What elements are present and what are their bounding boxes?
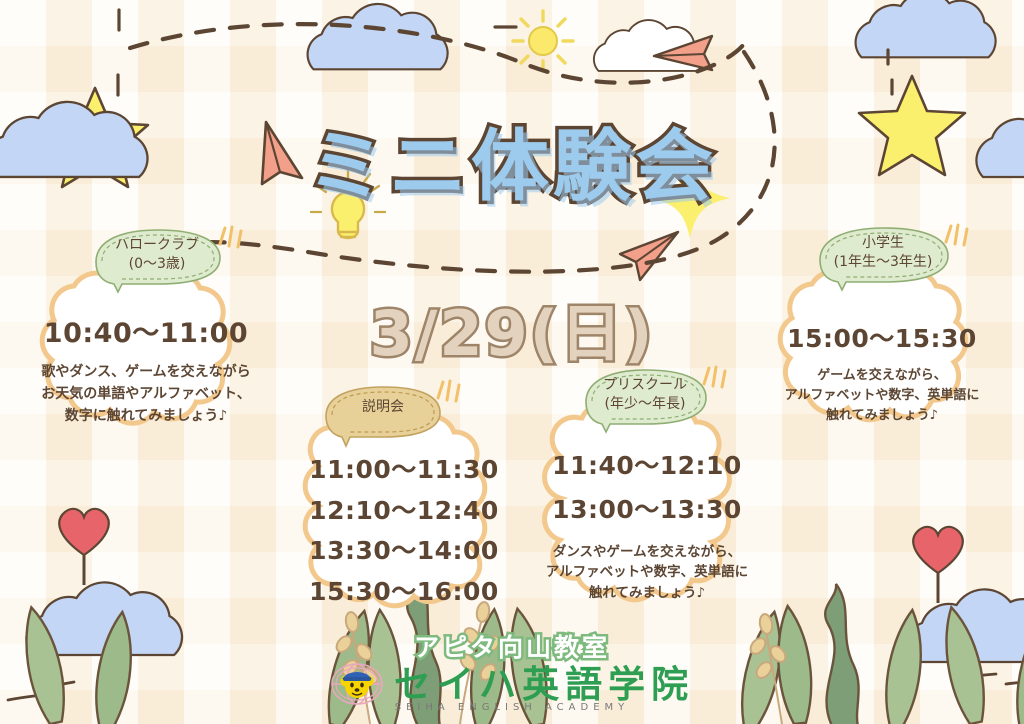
desc-line: 歌やダンス、ゲームを交えながら [28,362,264,384]
bear-globe-logo-icon [330,660,384,708]
bubble-label-line: 小学生 [812,234,954,253]
desc-line: 触れてみましょう♪ [540,583,754,604]
desc-line: 触れてみましょう♪ [768,406,996,426]
paper-plane-icon [620,232,678,280]
bubble-label-line: 説明会 [320,398,446,417]
desc-line: アルファベットや数字、英単語に [768,386,996,406]
bubble-label-line: (0〜3歳) [88,255,226,274]
sparkle-lines-icon [940,220,974,250]
bubble-label-line: ハロークラブ [88,236,226,255]
time-slot: 11:40〜12:10 [540,444,754,488]
time-slot: 15:00〜15:30 [768,322,996,356]
dashed-trail [130,24,744,83]
desc-line: 数字に触れてみましょう♪ [28,406,264,428]
desc-line: お天気の単語やアルファベット、 [28,384,264,406]
time-slot: 11:00〜11:30 [296,450,512,491]
bubble-hello-club: ハロークラブ (0〜3歳) [88,228,226,290]
time-slot: 13:30〜14:00 [296,531,512,572]
poster-canvas: ミニ体験会 3/29(日) 10:40〜11:00 歌やダンス、ゲームを交えなが… [0,0,1024,724]
sparkle-lines-icon [432,376,466,406]
heart-icon [59,509,108,585]
desc-line: ダンスやゲームを交えながら、 [540,542,754,563]
bubble-label-line: プリスクール [578,376,712,395]
time-slot: 10:40〜11:00 [28,316,264,352]
bubble-label-line: (年少〜年長) [578,395,712,414]
time-slot: 13:00〜13:30 [540,488,754,532]
card-elementary: 15:00〜15:30 ゲームを交えながら、 アルファベットや数字、英単語に 触… [768,266,996,448]
desc-line: アルファベットや数字、英単語に [540,562,754,583]
paper-plane-icon [654,36,712,70]
trail-dash [118,10,119,95]
poster-title: ミニ体験会 [0,104,1024,216]
academy-logo: セイハ英語学院 [0,660,1024,708]
academy-name-en: SEIHA ENGLISH ACADEMY [0,702,1024,713]
branch-name: アピタ向山教室 [0,628,1024,664]
sparkle-lines-icon [214,222,248,252]
sun-icon [513,11,573,71]
cloud-icon [308,4,448,69]
bubble-label-line: (1年生〜3年生) [812,253,954,272]
cloud-icon [594,20,703,71]
sparkle-lines-icon [698,362,732,392]
academy-name: セイハ英語学院 [394,666,694,703]
cloud-icon [856,0,996,57]
desc-line: ゲームを交えながら、 [768,366,996,386]
trail-dash [888,50,892,94]
heart-icon [913,527,962,603]
card-hello-club: 10:40〜11:00 歌やダンス、ゲームを交えながら お天気の単語やアルファベ… [28,268,264,448]
bubble-preschool: プリスクール (年少〜年長) [578,368,712,430]
bubble-briefing: 説明会 [320,384,446,444]
bubble-elementary: 小学生 (1年生〜3年生) [812,226,954,288]
time-slot: 15:30〜16:00 [296,572,512,613]
time-slot: 12:10〜12:40 [296,491,512,532]
